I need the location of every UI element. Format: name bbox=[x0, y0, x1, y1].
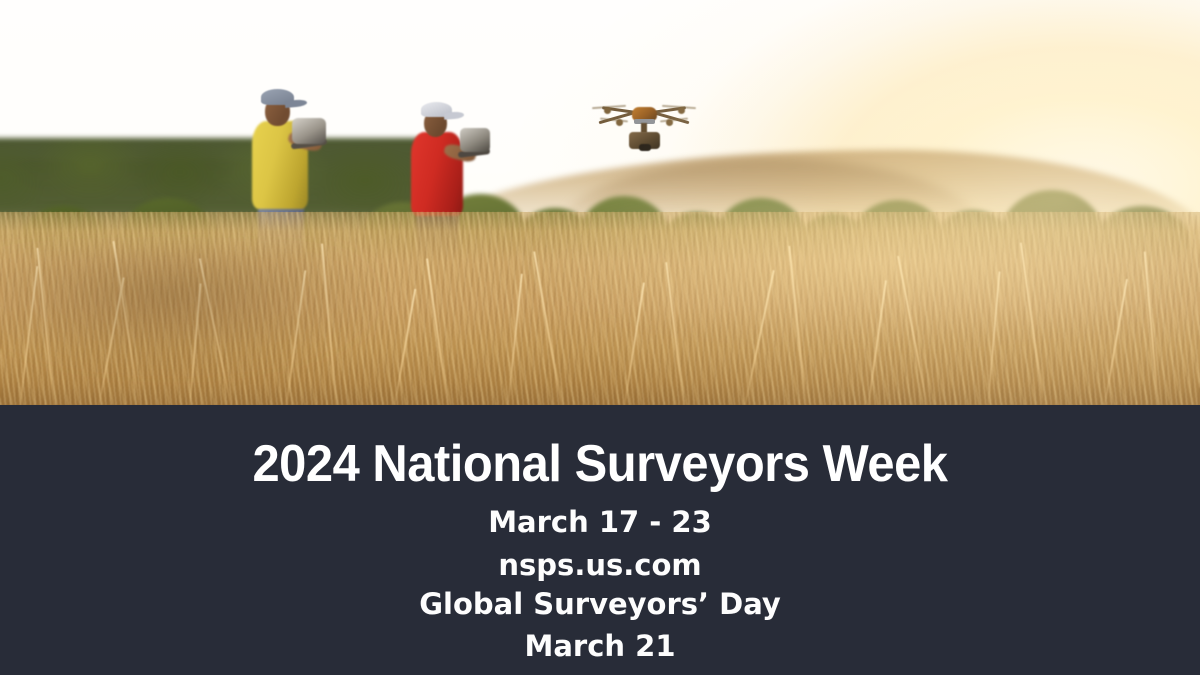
drone-controller-a bbox=[292, 118, 326, 144]
global-surveyors-day-label: Global Surveyors’ Day bbox=[0, 590, 1200, 619]
page-title: 2024 National Surveyors Week bbox=[36, 438, 1164, 490]
field-shadow-mound bbox=[0, 248, 380, 405]
poster: 2024 National Surveyors Week March 17 - … bbox=[0, 0, 1200, 675]
field-sunlight-patch bbox=[520, 200, 1200, 350]
website-url[interactable]: nsps.us.com bbox=[0, 551, 1200, 580]
drone-controller-b bbox=[460, 128, 490, 152]
event-dates: March 17 - 23 bbox=[0, 508, 1200, 537]
drone-camera-lens bbox=[639, 144, 651, 151]
global-surveyors-day-date: March 21 bbox=[0, 632, 1200, 661]
caption-band: 2024 National Surveyors Week March 17 - … bbox=[0, 405, 1200, 675]
survey-drone-icon bbox=[596, 95, 692, 161]
hero-photo bbox=[0, 0, 1200, 405]
